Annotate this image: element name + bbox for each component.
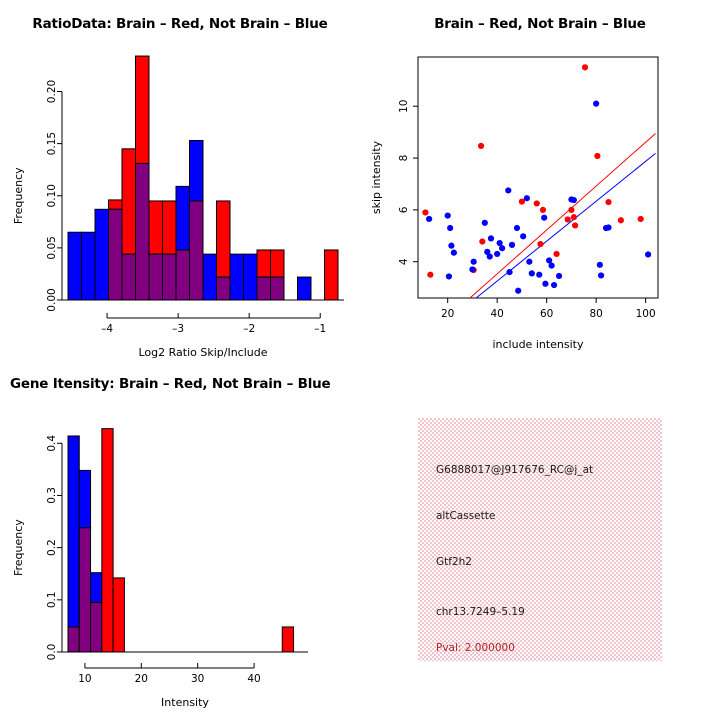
scatter-point — [524, 195, 530, 201]
x-axis-title: Intensity — [161, 696, 209, 709]
plot-frame — [418, 57, 658, 298]
y-axis-tick-label: 8 — [398, 155, 410, 162]
scatter-point — [445, 212, 451, 218]
x-axis-title: Log2 Ratio Skip/Include — [138, 346, 267, 359]
histogram-bar-overlap — [257, 277, 271, 300]
x-axis-tick-label: –1 — [314, 323, 326, 335]
x-axis-title: include intensity — [492, 338, 584, 351]
histogram-bar — [163, 201, 177, 254]
scatter-point — [494, 251, 500, 257]
scatter-point — [571, 214, 577, 220]
histogram-bar-overlap — [149, 254, 163, 300]
scatter-point — [540, 207, 546, 213]
histogram-bar-overlap — [217, 277, 231, 300]
regression-line — [470, 133, 656, 298]
r-multipanel-figure: RatioData: Brain – Red, Not Brain – Blue… — [0, 0, 720, 720]
scatter-point — [506, 269, 512, 275]
histogram-bar-overlap — [271, 277, 285, 300]
scatter-point — [605, 224, 611, 230]
y-axis-tick-label: 0.0 — [46, 644, 58, 661]
scatter-point — [515, 288, 521, 294]
histogram-bar — [122, 149, 136, 254]
histogram-bar — [325, 250, 339, 300]
histogram-bar — [95, 209, 109, 300]
histogram-bar — [257, 250, 271, 277]
y-axis-tick-label: 10 — [398, 100, 410, 113]
panel-annotation-info: G6888017@J917676_RC@j_at altCassette Gtf… — [360, 360, 720, 720]
scatter-point — [471, 259, 477, 265]
scatter-point — [536, 272, 542, 278]
histogram-bar — [79, 470, 90, 527]
x-axis-tick-label: –3 — [172, 323, 184, 335]
event-type-text: altCassette — [436, 510, 495, 522]
histogram-bar — [190, 140, 204, 200]
scatter-point — [556, 273, 562, 279]
scatter-point — [427, 272, 433, 278]
y-axis-title: Frequency — [12, 519, 25, 576]
histogram-bar — [91, 573, 102, 603]
x-axis-tick-label: 60 — [540, 308, 553, 320]
scatter-point — [487, 253, 493, 259]
scatter-point — [482, 220, 488, 226]
scatter-point — [553, 251, 559, 257]
histogram-bar-overlap — [136, 163, 150, 300]
scatter-point — [446, 273, 452, 279]
histogram-bar — [203, 254, 217, 300]
x-axis-tick-label: 100 — [636, 308, 656, 320]
scatter-point — [605, 199, 611, 205]
annotation-box: G6888017@J917676_RC@j_at altCassette Gtf… — [418, 418, 662, 661]
scatter-point — [520, 233, 526, 239]
panel-gene-intensity-histogram: Gene Itensity: Brain – Red, Not Brain – … — [0, 360, 360, 720]
x-axis-tick-label: 10 — [78, 673, 91, 685]
y-axis-tick-label: 0.3 — [46, 487, 58, 504]
histogram-bar-overlap — [79, 528, 90, 652]
panel-ratio-histogram: RatioData: Brain – Red, Not Brain – Blue… — [0, 0, 360, 360]
scatter-point — [594, 153, 600, 159]
scatter-point — [638, 216, 644, 222]
x-axis-tick-label: 30 — [191, 673, 204, 685]
y-axis-tick-label: 0.20 — [46, 80, 58, 103]
scatter-point — [448, 243, 454, 249]
histogram-bar — [282, 627, 293, 652]
histogram-bar — [176, 186, 190, 250]
scatter-point — [568, 207, 574, 213]
scatter-point — [478, 143, 484, 149]
scatter-point — [551, 282, 557, 288]
histogram-bar — [149, 201, 163, 254]
histogram-bar — [298, 277, 312, 300]
scatter-point — [593, 101, 599, 107]
y-axis-tick-label: 0.00 — [46, 288, 58, 311]
histogram-bar — [102, 429, 113, 652]
x-axis-tick-label: 40 — [490, 308, 503, 320]
histogram-bar — [217, 201, 231, 277]
scatter-point — [582, 64, 588, 70]
y-axis-title: skip intensity — [370, 140, 383, 214]
y-axis-tick-label: 0.4 — [46, 435, 58, 452]
scatter-point — [598, 272, 604, 278]
scatter-point — [479, 238, 485, 244]
x-axis-tick-label: 40 — [247, 673, 260, 685]
scatter-point — [565, 216, 571, 222]
y-axis-tick-label: 0.10 — [46, 184, 58, 207]
histogram-bar — [271, 250, 285, 277]
histogram-bar — [230, 254, 244, 300]
scatter-point — [509, 242, 515, 248]
x-axis-tick-label: 80 — [589, 308, 602, 320]
scatter-point — [514, 225, 520, 231]
scatter-point — [422, 209, 428, 215]
y-axis-title: Frequency — [12, 167, 25, 224]
scatter-point — [469, 266, 475, 272]
scatter-point — [447, 225, 453, 231]
y-axis-tick-label: 0.2 — [46, 539, 58, 556]
y-axis-tick-label: 6 — [398, 206, 410, 213]
histogram-bar-overlap — [91, 602, 102, 652]
regression-line — [476, 153, 655, 298]
locus-text: chr13.7249–5.19 — [436, 606, 525, 618]
histogram-bar — [136, 56, 150, 163]
y-axis-tick-label: 0.05 — [46, 236, 58, 259]
histogram-bar — [109, 200, 123, 209]
scatter-point — [426, 216, 432, 222]
y-axis-tick-label: 0.1 — [46, 591, 58, 608]
scatter-point — [488, 235, 494, 241]
scatter-point — [451, 250, 457, 256]
scatter-point — [541, 215, 547, 221]
histogram-bar — [244, 254, 258, 300]
scatter-point — [542, 281, 548, 287]
histogram-bar — [113, 578, 124, 652]
histogram-bar — [68, 232, 82, 300]
scatter-point — [597, 262, 603, 268]
scatter-point — [645, 251, 651, 257]
x-axis-tick-label: –4 — [101, 323, 113, 335]
probe-id-text: G6888017@J917676_RC@j_at — [436, 464, 593, 476]
histogram-bar-overlap — [122, 254, 136, 300]
x-axis-tick-label: 20 — [135, 673, 148, 685]
panel-intensity-scatter: Brain – Red, Not Brain – Blue 2040608010… — [360, 0, 720, 360]
histogram-bar-overlap — [109, 209, 123, 300]
pval-text: Pval: 2.000000 — [436, 642, 515, 654]
scatter-point — [549, 263, 555, 269]
scatter-point — [537, 241, 543, 247]
histogram-bar-overlap — [163, 254, 177, 300]
scatter-point — [572, 222, 578, 228]
histogram-bar-overlap — [176, 250, 190, 300]
scatter-point — [499, 245, 505, 251]
scatter-point — [529, 270, 535, 276]
gene-symbol-text: Gtf2h2 — [436, 556, 472, 568]
y-axis-tick-label: 4 — [398, 258, 410, 265]
ratio-histogram-plot: 0.000.050.100.150.20–4–3–2–1Log2 Ratio S… — [0, 0, 360, 360]
histogram-bar — [82, 232, 96, 300]
histogram-bar — [68, 436, 79, 627]
scatter-point — [618, 217, 624, 223]
gene-intensity-histogram-plot: 0.00.10.20.30.410203040IntensityFrequenc… — [0, 360, 360, 720]
scatter-point — [526, 259, 532, 265]
intensity-scatter-plot: 2040608010046810include intensityskip in… — [360, 0, 720, 360]
scatter-point — [505, 187, 511, 193]
x-axis-tick-label: –2 — [243, 323, 255, 335]
scatter-point — [534, 200, 540, 206]
histogram-bar-overlap — [190, 201, 204, 300]
x-axis-tick-label: 20 — [441, 308, 454, 320]
scatter-point — [571, 197, 577, 203]
y-axis-tick-label: 0.15 — [46, 132, 58, 155]
histogram-bar-overlap — [68, 627, 79, 652]
